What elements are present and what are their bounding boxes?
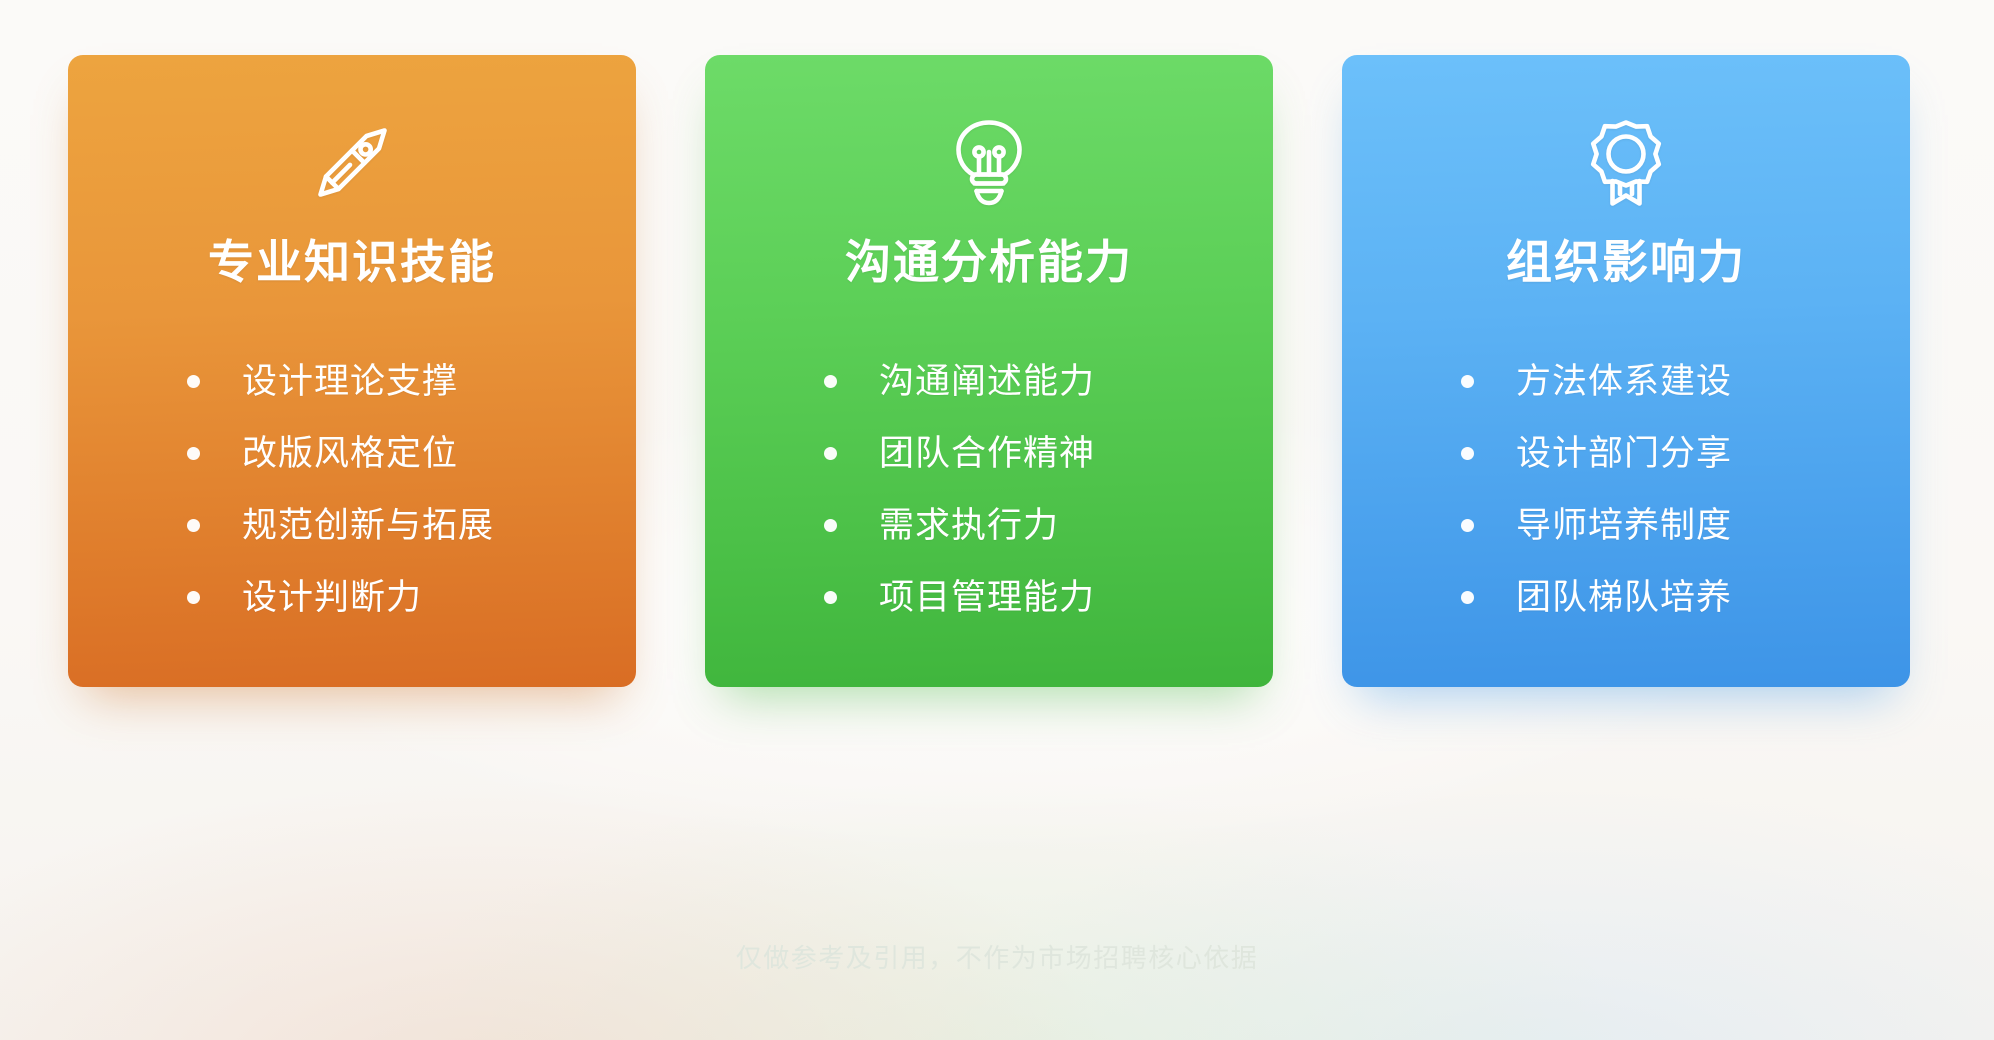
bullet-dot-icon: [1461, 519, 1474, 532]
bullet-dot-icon: [1461, 375, 1474, 388]
bullet-dot-icon: [187, 591, 200, 604]
card-organizational-influence[interactable]: 组织影响力 方法体系建设 设计部门分享 导师培养制度 团队梯队培养: [1342, 55, 1910, 687]
card-item-list: 沟通阐述能力 团队合作精神 需求执行力 项目管理能力: [705, 346, 1273, 634]
list-item[interactable]: 方法体系建设: [1461, 346, 1791, 418]
list-item-label: 设计判断力: [242, 577, 422, 619]
list-item[interactable]: 设计判断力: [187, 562, 517, 634]
list-item[interactable]: 规范创新与拓展: [187, 490, 517, 562]
list-item[interactable]: 需求执行力: [824, 490, 1154, 562]
list-item-label: 规范创新与拓展: [242, 505, 494, 547]
list-item[interactable]: 导师培养制度: [1461, 490, 1791, 562]
list-item-label: 导师培养制度: [1516, 505, 1732, 547]
bullet-dot-icon: [824, 591, 837, 604]
list-item-label: 设计理论支撑: [242, 361, 458, 403]
list-item-label: 设计部门分享: [1516, 433, 1732, 475]
list-item-label: 团队梯队培养: [1516, 577, 1732, 619]
list-item-label: 需求执行力: [879, 505, 1059, 547]
list-item-label: 沟通阐述能力: [879, 361, 1095, 403]
lightbulb-icon: [946, 111, 1032, 215]
list-item-label: 方法体系建设: [1516, 361, 1732, 403]
card-item-list: 设计理论支撑 改版风格定位 规范创新与拓展 设计判断力: [68, 346, 636, 634]
bullet-dot-icon: [187, 519, 200, 532]
card-title: 沟通分析能力: [845, 237, 1133, 288]
bullet-dot-icon: [187, 375, 200, 388]
bullet-dot-icon: [824, 519, 837, 532]
list-item-label: 改版风格定位: [242, 433, 458, 475]
list-item[interactable]: 项目管理能力: [824, 562, 1154, 634]
card-row: 专业知识技能 设计理论支撑 改版风格定位 规范创新与拓展 设计判断力: [68, 55, 1910, 687]
bullet-dot-icon: [824, 375, 837, 388]
list-item-label: 项目管理能力: [879, 577, 1095, 619]
pen-nib-icon: [306, 111, 398, 215]
card-communication-analysis-ability[interactable]: 沟通分析能力 沟通阐述能力 团队合作精神 需求执行力 项目管理能力: [705, 55, 1273, 687]
list-item[interactable]: 改版风格定位: [187, 418, 517, 490]
list-item[interactable]: 团队合作精神: [824, 418, 1154, 490]
bullet-dot-icon: [187, 447, 200, 460]
list-item-label: 团队合作精神: [879, 433, 1095, 475]
list-item[interactable]: 设计理论支撑: [187, 346, 517, 418]
list-item[interactable]: 沟通阐述能力: [824, 346, 1154, 418]
card-title: 组织影响力: [1506, 237, 1746, 288]
competency-cards-infographic: 专业知识技能 设计理论支撑 改版风格定位 规范创新与拓展 设计判断力: [0, 0, 1994, 1040]
bullet-dot-icon: [1461, 447, 1474, 460]
bullet-dot-icon: [1461, 591, 1474, 604]
footer-disclaimer: 仅做参考及引用，不作为市场招聘核心依据: [0, 938, 1994, 975]
card-title: 专业知识技能: [208, 237, 496, 288]
list-item[interactable]: 设计部门分享: [1461, 418, 1791, 490]
card-professional-knowledge-skills[interactable]: 专业知识技能 设计理论支撑 改版风格定位 规范创新与拓展 设计判断力: [68, 55, 636, 687]
list-item[interactable]: 团队梯队培养: [1461, 562, 1791, 634]
card-item-list: 方法体系建设 设计部门分享 导师培养制度 团队梯队培养: [1342, 346, 1910, 634]
bullet-dot-icon: [824, 447, 837, 460]
award-medal-icon: [1582, 111, 1670, 215]
